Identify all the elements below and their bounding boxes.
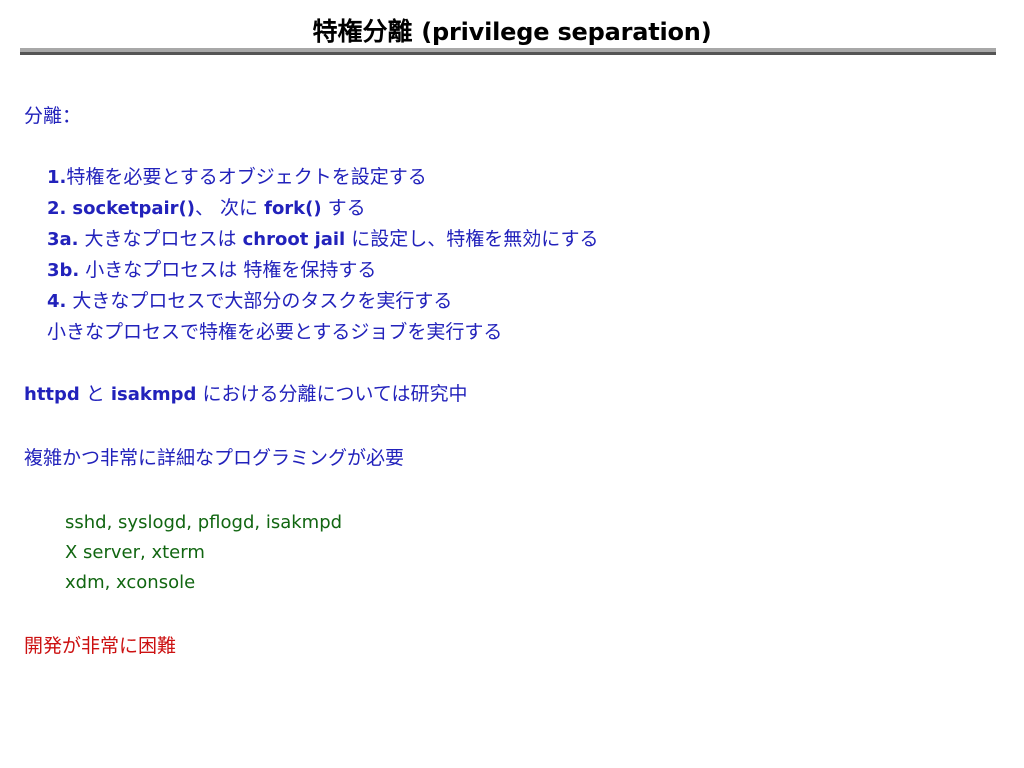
list-item: 3a. 大きなプロセスは chroot jail に設定し、特権を無効にする bbox=[47, 224, 598, 255]
list-item-marker: 1. bbox=[47, 167, 66, 188]
list-item-text: 大きなプロセスで大部分のタスクを実行する bbox=[66, 290, 452, 312]
research-line-mid: と bbox=[80, 383, 111, 405]
research-line: httpd と isakmpd における分離については研究中 bbox=[24, 382, 468, 407]
list-item-text: 小きなプロセスは 特権を保持する bbox=[79, 259, 376, 281]
code-isakmpd: isakmpd bbox=[111, 384, 197, 405]
list-item-text: 特権を必要とするオブジェクトを設定する bbox=[66, 166, 426, 188]
list-item-marker: 3a. bbox=[47, 229, 79, 250]
slide-body: 分離： 1.特権を必要とするオブジェクトを設定する 2. socketpair(… bbox=[0, 0, 1024, 768]
example-item: sshd, syslogd, pflogd, isakmpd bbox=[65, 512, 342, 542]
code-fork: fork() bbox=[264, 198, 322, 219]
list-item-post: に設定し、特権を無効にする bbox=[345, 228, 598, 250]
list-item-marker: 2. bbox=[47, 198, 66, 219]
section-heading: 分離： bbox=[24, 104, 81, 128]
list-item: 1.特権を必要とするオブジェクトを設定する bbox=[47, 162, 598, 193]
list-item: 4. 大きなプロセスで大部分のタスクを実行する bbox=[47, 286, 598, 317]
list-item-mid: 、 次に bbox=[195, 197, 264, 219]
code-httpd: httpd bbox=[24, 384, 80, 405]
example-item: X server, xterm bbox=[65, 542, 342, 572]
difficulty-line: 開発が非常に困難 bbox=[24, 634, 176, 658]
list-item-text: 小きなプロセスで特権を必要とするジョブを実行する bbox=[47, 321, 502, 343]
list-item-post: する bbox=[322, 197, 366, 219]
example-item: xdm, xconsole bbox=[65, 572, 342, 602]
code-chroot-jail: chroot jail bbox=[243, 229, 346, 250]
code-socketpair: socketpair() bbox=[72, 198, 195, 219]
steps-list: 1.特権を必要とするオブジェクトを設定する 2. socketpair()、 次… bbox=[47, 162, 598, 348]
list-item-marker: 3b. bbox=[47, 260, 79, 281]
complexity-line: 複雑かつ非常に詳細なプログラミングが必要 bbox=[24, 446, 404, 470]
examples-list: sshd, syslogd, pflogd, isakmpd X server,… bbox=[65, 512, 342, 602]
list-item-pre: 大きなプロセスは bbox=[79, 228, 243, 250]
list-item: 2. socketpair()、 次に fork() する bbox=[47, 193, 598, 224]
research-line-post: における分離については研究中 bbox=[196, 383, 467, 405]
list-item: 小きなプロセスで特権を必要とするジョブを実行する bbox=[47, 317, 598, 348]
list-item: 3b. 小きなプロセスは 特権を保持する bbox=[47, 255, 598, 286]
list-item-marker: 4. bbox=[47, 291, 66, 312]
